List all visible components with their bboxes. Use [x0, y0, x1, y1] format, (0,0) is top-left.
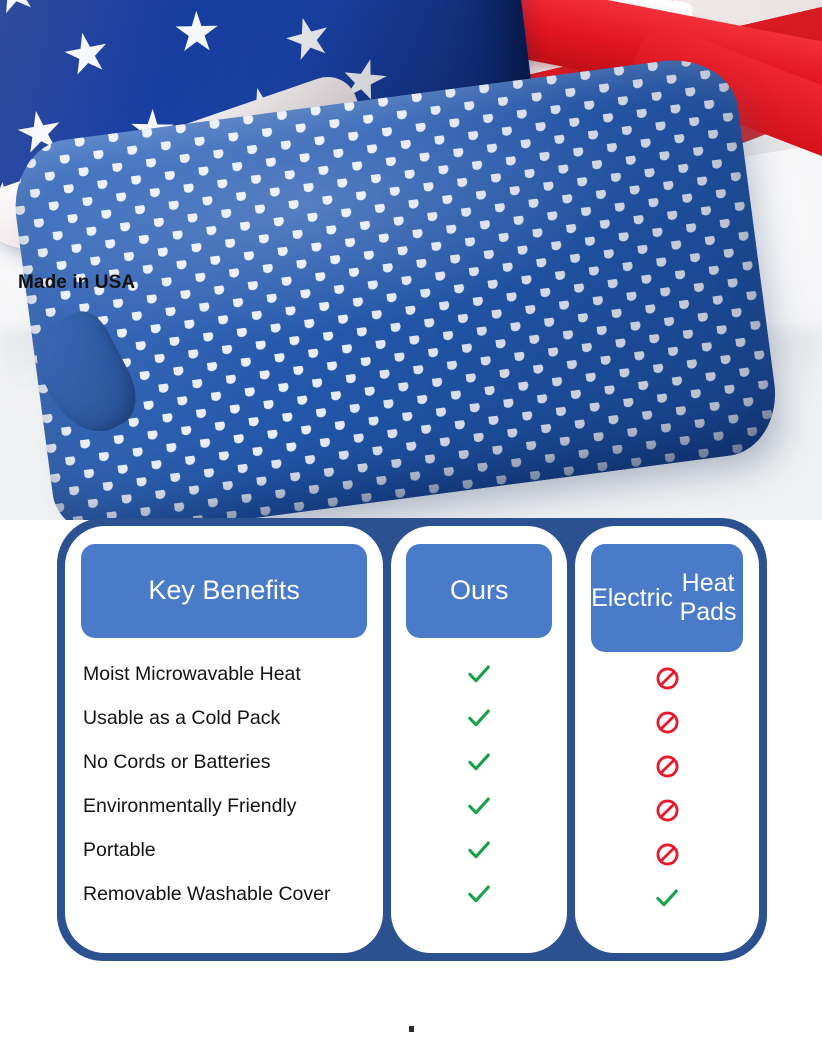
ours-cell	[391, 784, 567, 828]
benefit-row: Environmentally Friendly	[65, 784, 383, 828]
benefit-row: Removable Washable Cover	[65, 872, 383, 916]
check-icon	[466, 793, 492, 819]
benefit-row: No Cords or Batteries	[65, 740, 383, 784]
benefit-label-list: Moist Microwavable Heat Usable as a Cold…	[65, 652, 383, 916]
prohibited-icon	[655, 666, 680, 691]
prohibited-icon	[655, 798, 680, 823]
electric-cell	[575, 832, 759, 876]
ours-cell	[391, 696, 567, 740]
flag-star	[281, 12, 335, 66]
prohibited-icon	[655, 842, 680, 867]
flag-star	[61, 29, 113, 81]
column-header-ours: Ours	[406, 544, 552, 638]
ours-cell	[391, 828, 567, 872]
electric-cell	[575, 656, 759, 700]
electric-cell	[575, 876, 759, 920]
made-in-usa-label: Made in USA	[18, 272, 135, 294]
column-ours: Ours	[391, 526, 567, 953]
column-header-key-benefits: Key Benefits	[81, 544, 367, 638]
header-line-1: Electric	[591, 584, 673, 613]
column-electric-heat-pads: Electric Heat Pads	[575, 526, 759, 953]
electric-mark-list	[575, 656, 759, 920]
check-icon	[466, 705, 492, 731]
electric-cell	[575, 700, 759, 744]
flag-star	[0, 49, 1, 95]
ours-cell	[391, 740, 567, 784]
benefit-row: Moist Microwavable Heat	[65, 652, 383, 696]
image-artifact-speck	[409, 1026, 414, 1032]
column-header-electric-heat-pads: Electric Heat Pads	[591, 544, 743, 652]
check-icon	[466, 837, 492, 863]
column-key-benefits: Key Benefits Moist Microwavable Heat Usa…	[65, 526, 383, 953]
benefit-row: Portable	[65, 828, 383, 872]
flag-star	[174, 10, 219, 55]
check-icon	[466, 881, 492, 907]
prohibited-icon	[655, 710, 680, 735]
check-icon	[466, 749, 492, 775]
prohibited-icon	[655, 754, 680, 779]
check-icon	[654, 885, 680, 911]
check-icon	[466, 661, 492, 687]
electric-cell	[575, 744, 759, 788]
ours-cell	[391, 872, 567, 916]
flag-star	[0, 0, 41, 19]
ours-cell	[391, 652, 567, 696]
header-line-2: Heat Pads	[673, 569, 743, 627]
product-infographic: Made in USA Key Benefits Moist Microwava…	[0, 0, 822, 1037]
product-photo: Made in USA	[0, 0, 822, 520]
comparison-table: Key Benefits Moist Microwavable Heat Usa…	[57, 518, 767, 961]
electric-cell	[575, 788, 759, 832]
benefit-row: Usable as a Cold Pack	[65, 696, 383, 740]
ours-mark-list	[391, 652, 567, 916]
